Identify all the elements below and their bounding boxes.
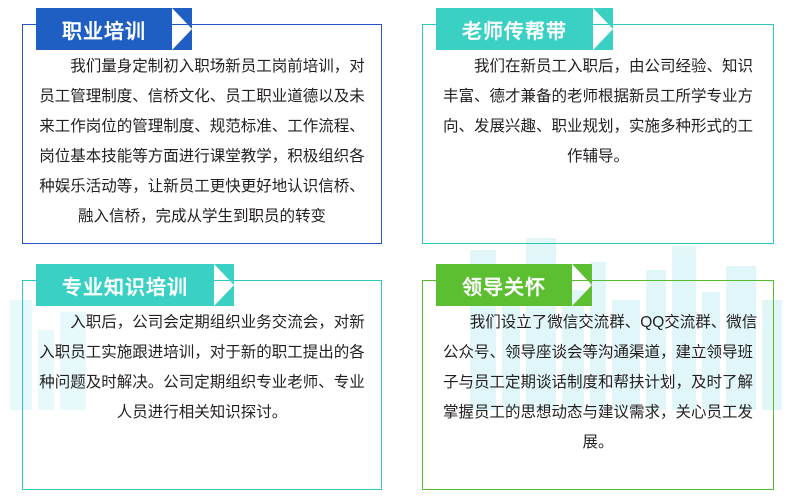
- grid-cell-1: 老师传帮带 我们在新员工入职后，由公司经验、知识丰富、德才兼备的老师根据新员工所…: [400, 0, 800, 254]
- grid-cell-2: 专业知识培训 入职后，公司会定期组织业务交流会，对新入职员工实施跟进培训，对于新…: [0, 254, 400, 498]
- card-title: 职业培训: [62, 15, 146, 44]
- card-title-ribbon: 领导关怀: [436, 264, 572, 306]
- card-professional-knowledge-training: 专业知识培训 入职后，公司会定期组织业务交流会，对新入职员工实施跟进培训，对于新…: [22, 264, 382, 490]
- grid-cell-3: 领导关怀 我们设立了微信交流群、QQ交流群、微信公众号、领导座谈会等沟通渠道，建…: [400, 254, 800, 498]
- card-title-ribbon: 专业知识培训: [36, 264, 214, 306]
- grid-cell-0: 职业培训 我们量身定制初入职场新员工岗前培训，对员工管理制度、信桥文化、员工职业…: [0, 0, 400, 254]
- card-title: 专业知识培训: [62, 271, 188, 300]
- card-title-ribbon: 老师传帮带: [436, 8, 593, 50]
- card-title: 领导关怀: [462, 271, 546, 300]
- card-vocational-training: 职业培训 我们量身定制初入职场新员工岗前培训，对员工管理制度、信桥文化、员工职业…: [22, 8, 382, 244]
- card-leadership-care: 领导关怀 我们设立了微信交流群、QQ交流群、微信公众号、领导座谈会等沟通渠道，建…: [422, 264, 774, 490]
- card-teacher-mentoring: 老师传帮带 我们在新员工入职后，由公司经验、知识丰富、德才兼备的老师根据新员工所…: [422, 8, 774, 244]
- card-title-ribbon: 职业培训: [36, 8, 172, 50]
- card-title: 老师传帮带: [462, 15, 567, 44]
- card-grid: 职业培训 我们量身定制初入职场新员工岗前培训，对员工管理制度、信桥文化、员工职业…: [0, 0, 800, 498]
